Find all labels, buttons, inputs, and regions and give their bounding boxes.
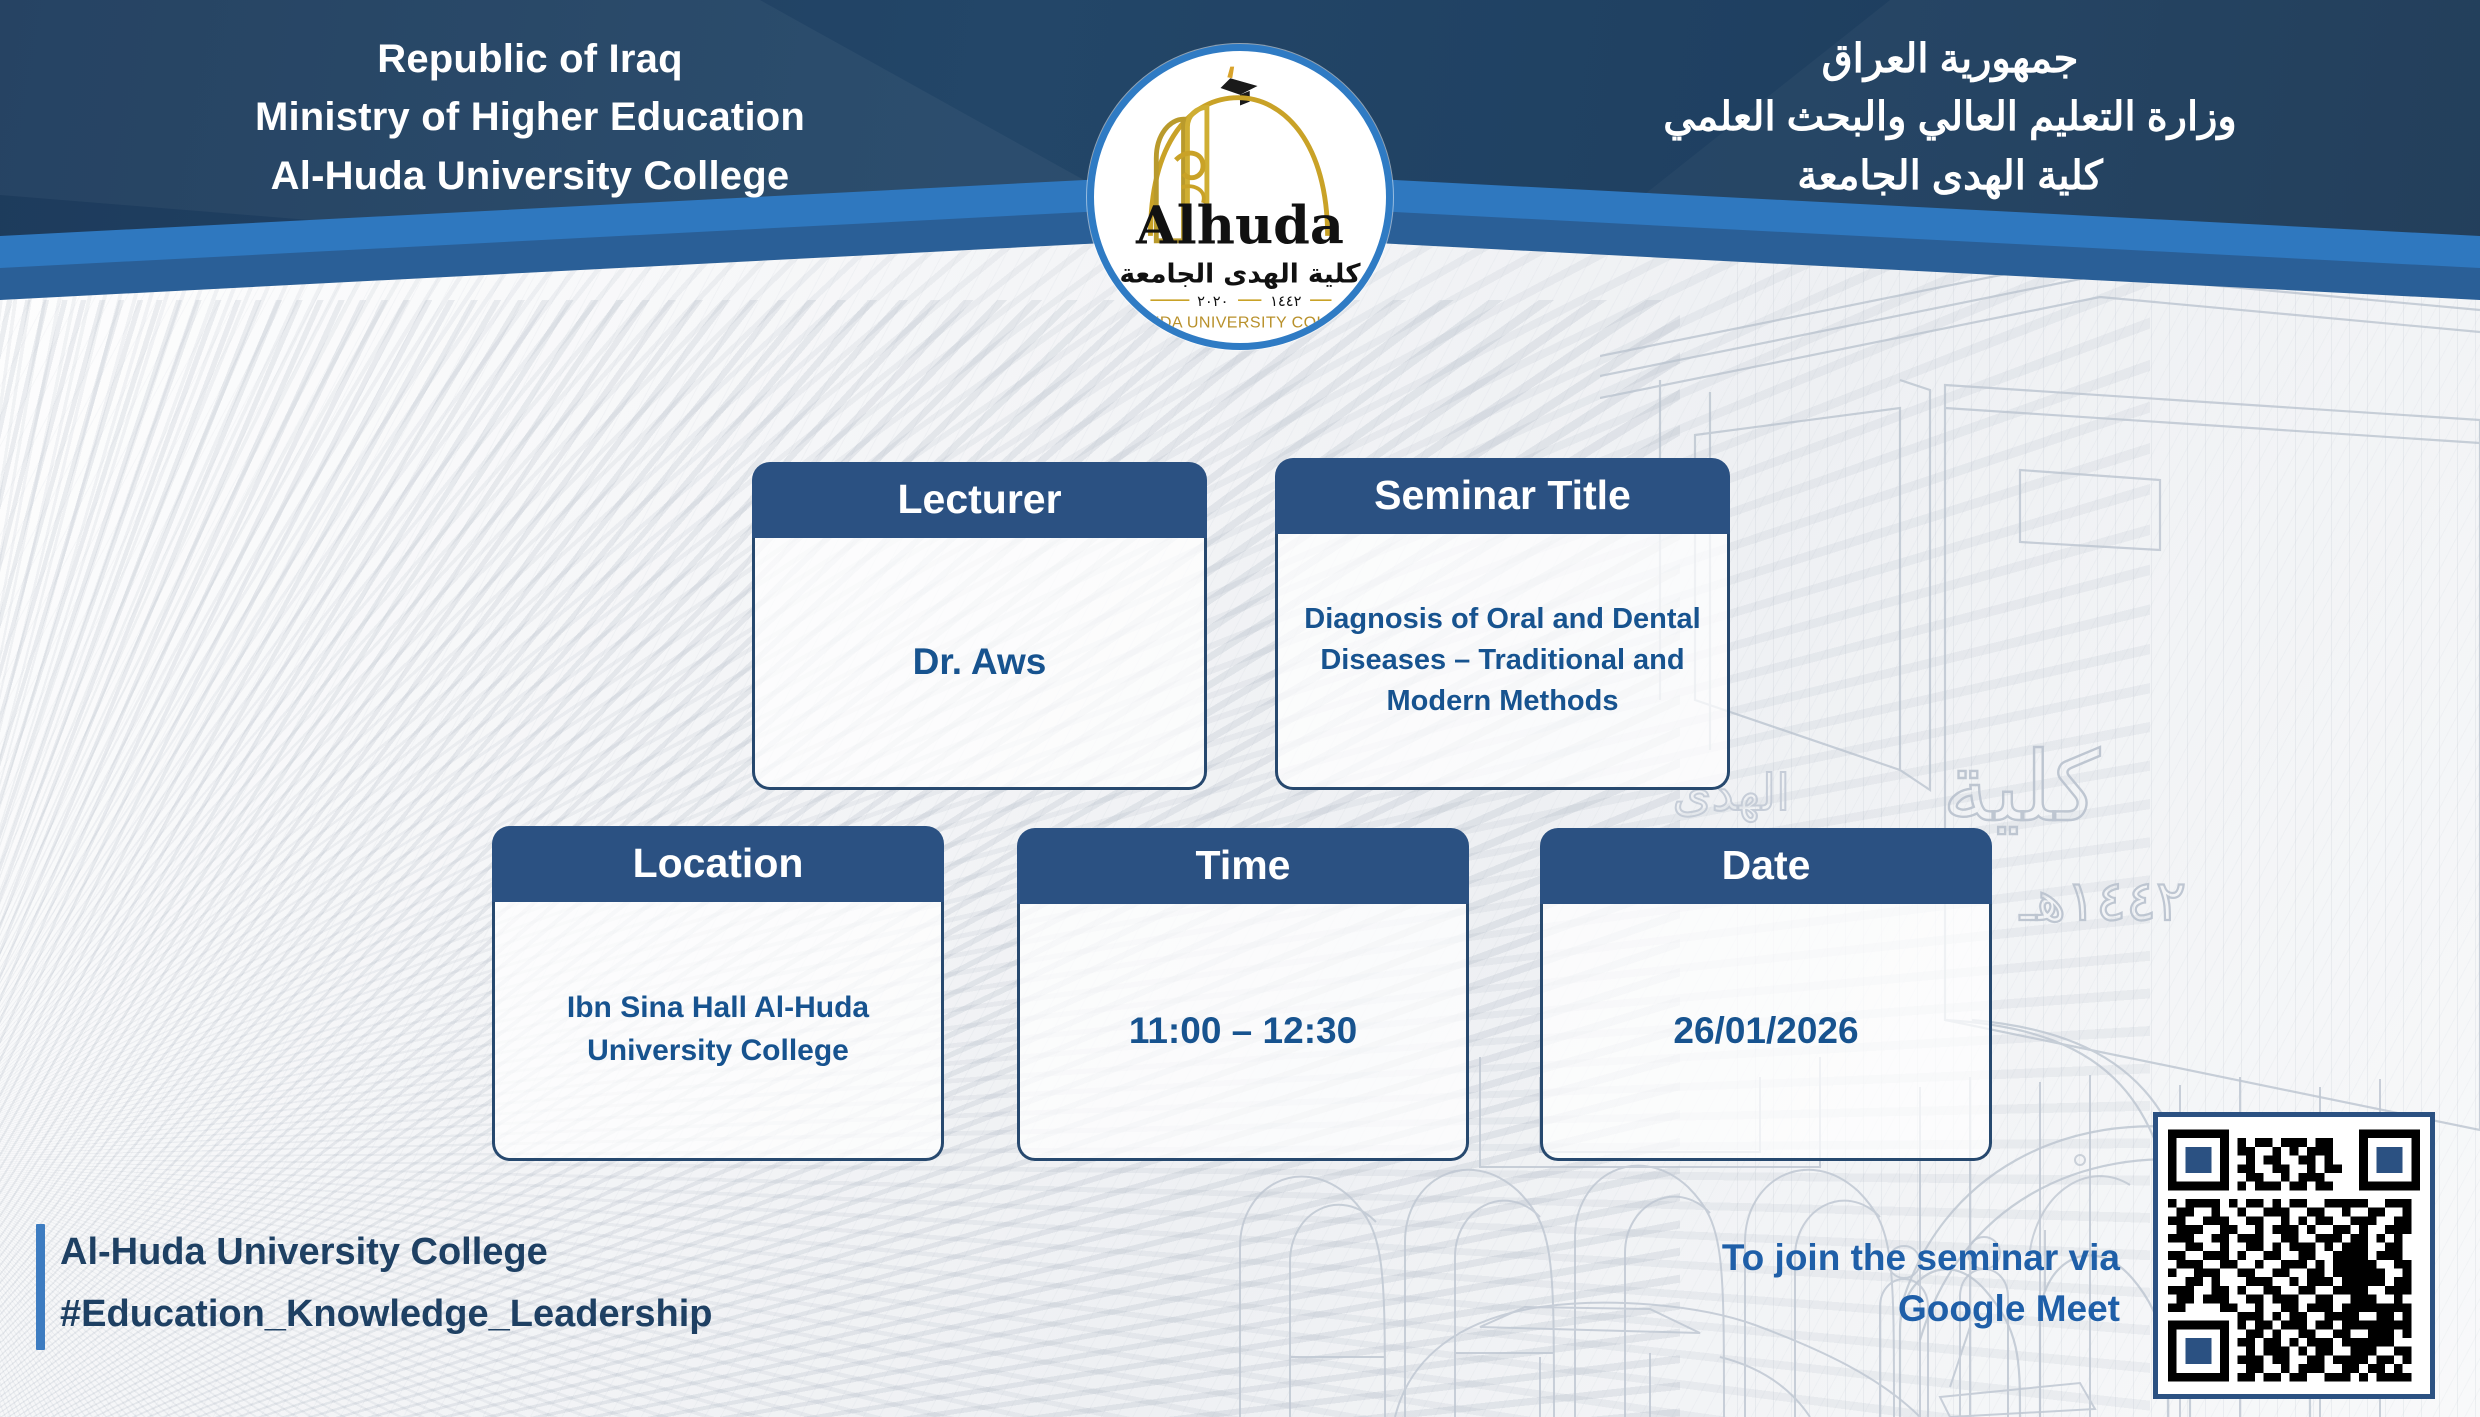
header-en-line-1: Republic of Iraq <box>160 30 900 88</box>
header-ar-line-1: جمهورية العراق <box>1570 30 2330 88</box>
join-line-2: Google Meet <box>1640 1283 2120 1334</box>
card-value-location: Ibn Sina Hall Al-Huda University College <box>492 902 944 1161</box>
logo-arabic-name: كلية الهدى الجامعة <box>1119 260 1361 290</box>
footer-college-name: Al-Huda University College <box>60 1222 960 1284</box>
header-ar-line-3: كلية الهدى الجامعة <box>1570 147 2330 205</box>
logo-hijri-year: ١٤٤٢ <box>1270 293 1302 310</box>
watermark-arabic-kulliya: كلية <box>1942 731 2100 843</box>
header-english-titles: Republic of Iraq Ministry of Higher Educ… <box>160 30 900 205</box>
join-instructions: To join the seminar via Google Meet <box>1640 1232 2120 1334</box>
qr-code-matrix[interactable] <box>2168 1127 2420 1384</box>
card-value-seminar-title: Diagnosis of Oral and Dental Diseases – … <box>1275 534 1730 790</box>
card-header-lecturer: Lecturer <box>752 462 1207 538</box>
google-meet-qr-code[interactable] <box>2153 1112 2435 1399</box>
header-ar-line-2: وزارة التعليم العالي والبحث العلمي <box>1570 88 2330 146</box>
card-header-location: Location <box>492 826 944 902</box>
card-header-time: Time <box>1017 828 1469 904</box>
card-value-date: 26/01/2026 <box>1540 904 1992 1161</box>
info-card-date: Date 26/01/2026 <box>1540 828 1992 1161</box>
alhuda-logo-badge: Alhuda كلية الهدى الجامعة ٢٠٢٠ ١٤٤٢ AL-H… <box>1087 44 1393 350</box>
info-card-time: Time 11:00 – 12:30 <box>1017 828 1469 1161</box>
info-card-seminar-title: Seminar Title Diagnosis of Oral and Dent… <box>1275 458 1730 790</box>
join-line-1: To join the seminar via <box>1640 1232 2120 1283</box>
watermark-hijri-year: ١٤٤٢هـ <box>2019 869 2186 934</box>
card-value-lecturer: Dr. Aws <box>752 538 1207 790</box>
footer-accent-bar <box>36 1224 45 1350</box>
alhuda-logo-mark: Alhuda كلية الهدى الجامعة ٢٠٢٠ ١٤٤٢ AL-H… <box>1094 51 1386 343</box>
header-arabic-titles: جمهورية العراق وزارة التعليم العالي والب… <box>1570 30 2330 205</box>
card-header-date: Date <box>1540 828 1992 904</box>
logo-gregorian-year: ٢٠٢٠ <box>1197 293 1228 310</box>
footer-hashtag: #Education_Knowledge_Leadership <box>60 1284 960 1346</box>
seminar-announcement-poster: كلية ١٤٤٢هـ الهدى <box>0 0 2480 1417</box>
info-card-lecturer: Lecturer Dr. Aws <box>752 462 1207 790</box>
card-value-time: 11:00 – 12:30 <box>1017 904 1469 1161</box>
card-header-seminar-title: Seminar Title <box>1275 458 1730 534</box>
footer-branding: Al-Huda University College #Education_Kn… <box>60 1222 960 1345</box>
info-card-location: Location Ibn Sina Hall Al-Huda Universit… <box>492 826 944 1161</box>
header-en-line-2: Ministry of Higher Education <box>160 88 900 146</box>
header-en-line-3: Al-Huda University College <box>160 147 900 205</box>
logo-wordmark: Alhuda <box>1135 196 1344 257</box>
